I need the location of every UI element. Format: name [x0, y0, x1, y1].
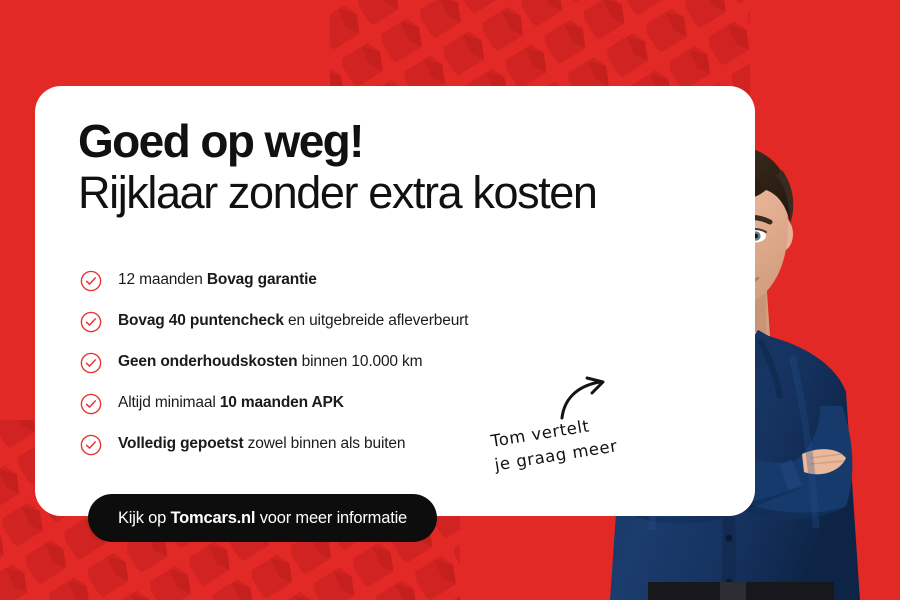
- feature-text: Volledig gepoetst zowel binnen als buite…: [118, 435, 405, 454]
- cta-suffix: voor meer informatie: [255, 509, 407, 527]
- cta-prefix: Kijk op: [118, 509, 171, 527]
- list-item: Geen onderhoudskosten binnen 10.000 km: [80, 342, 680, 383]
- feature-prefix: 12 maanden: [118, 271, 207, 288]
- check-circle-icon: [80, 393, 102, 415]
- check-circle-icon: [80, 270, 102, 292]
- feature-text: Altijd minimaal 10 maanden APK: [118, 394, 344, 413]
- feature-emphasis: Geen onderhoudskosten: [118, 353, 297, 370]
- feature-emphasis: Bovag garantie: [207, 271, 317, 288]
- promo-banner: Goed op weg! Rijklaar zonder extra koste…: [0, 0, 900, 600]
- cta-button[interactable]: Kijk op Tomcars.nl voor meer informatie: [88, 494, 437, 542]
- feature-emphasis: Bovag 40 puntencheck: [118, 312, 284, 329]
- feature-suffix: en uitgebreide afleverbeurt: [284, 312, 469, 329]
- list-item: Volledig gepoetst zowel binnen als buite…: [80, 424, 680, 465]
- headline-primary: Goed op weg!: [78, 118, 718, 166]
- cta-brand: Tomcars.nl: [171, 509, 256, 527]
- check-circle-icon: [80, 352, 102, 374]
- feature-list: 12 maanden Bovag garantie Bovag 40 punte…: [80, 260, 680, 465]
- feature-emphasis: 10 maanden APK: [220, 394, 344, 411]
- feature-text: Geen onderhoudskosten binnen 10.000 km: [118, 353, 422, 372]
- list-item: 12 maanden Bovag garantie: [80, 260, 680, 301]
- feature-prefix: Altijd minimaal: [118, 394, 220, 411]
- page-title: Goed op weg! Rijklaar zonder extra koste…: [78, 118, 718, 218]
- list-item: Altijd minimaal 10 maanden APK: [80, 383, 680, 424]
- check-circle-icon: [80, 434, 102, 456]
- feature-text: Bovag 40 puntencheck en uitgebreide afle…: [118, 312, 468, 331]
- cta-label: Kijk op Tomcars.nl voor meer informatie: [118, 509, 407, 528]
- feature-emphasis: Volledig gepoetst: [118, 435, 243, 452]
- list-item: Bovag 40 puntencheck en uitgebreide afle…: [80, 301, 680, 342]
- feature-suffix: zowel binnen als buiten: [243, 435, 405, 452]
- headline-secondary: Rijklaar zonder extra kosten: [78, 168, 718, 218]
- feature-suffix: binnen 10.000 km: [297, 353, 422, 370]
- check-circle-icon: [80, 311, 102, 333]
- feature-text: 12 maanden Bovag garantie: [118, 271, 317, 290]
